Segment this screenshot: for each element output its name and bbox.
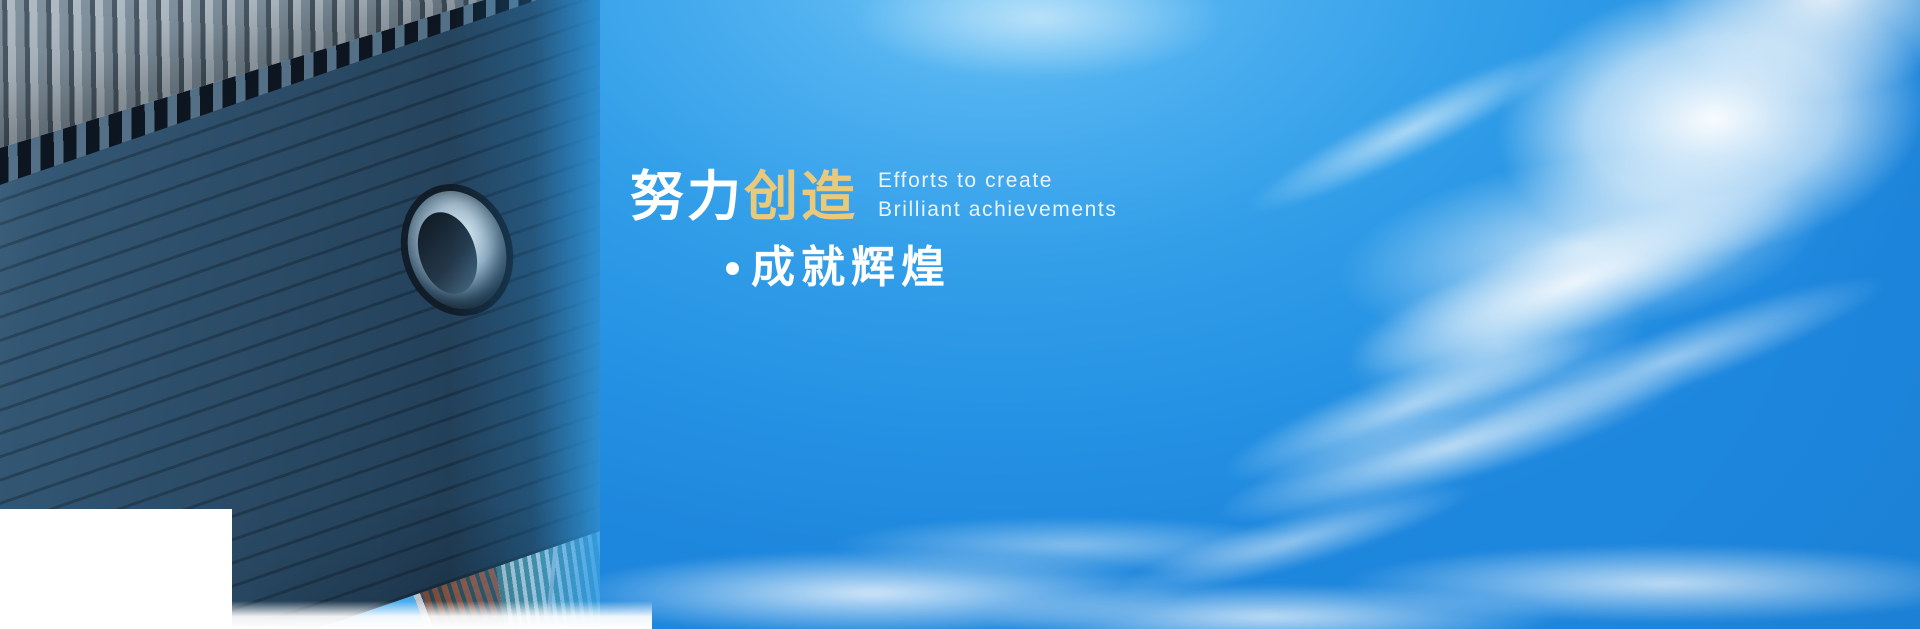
headline-chinese-primary: 努力创造	[630, 170, 858, 224]
english-line-2: Brilliant achievements	[878, 197, 1117, 223]
headline-cn-gold: 创造	[744, 167, 858, 227]
bottom-white-fade-strip	[232, 601, 652, 629]
hero-banner: 努力创造 Efforts to create Brilliant achieve…	[0, 0, 1920, 629]
bullet-point-icon	[726, 262, 739, 275]
banner-copy-block: 努力创造 Efforts to create Brilliant achieve…	[630, 168, 1250, 290]
headline-english-block: Efforts to create Brilliant achievements	[878, 168, 1117, 224]
headline-line-2: 成就辉煌	[630, 246, 1250, 290]
headline-chinese-secondary: 成就辉煌	[751, 246, 951, 290]
english-line-1: Efforts to create	[878, 168, 1117, 194]
bottom-left-white-strip	[0, 509, 232, 629]
headline-cn-white: 努力	[630, 167, 744, 227]
headline-line-1: 努力创造 Efforts to create Brilliant achieve…	[630, 168, 1250, 224]
